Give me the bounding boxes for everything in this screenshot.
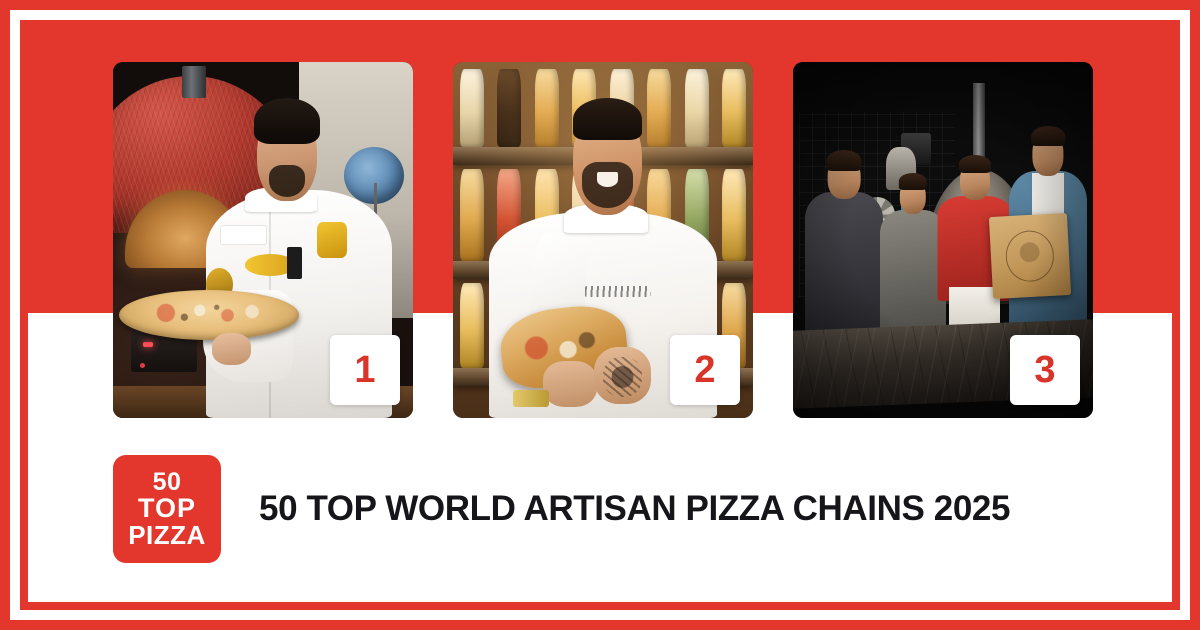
neapolitan-pizza: [119, 290, 299, 340]
logo-line-2: TOP: [138, 495, 196, 521]
ranking-card-2[interactable]: 2: [453, 62, 753, 418]
poster-canvas: 1: [0, 0, 1200, 630]
fifty-top-pizza-logo[interactable]: 50 TOP PIZZA: [113, 455, 221, 563]
rank-badge-2: 2: [670, 335, 740, 405]
ranking-card-1[interactable]: 1: [113, 62, 413, 418]
page-title: 50 TOP WORLD ARTISAN PIZZA CHAINS 2025: [259, 489, 1010, 529]
logo-line-1: 50: [153, 470, 182, 495]
rank-badge-3: 3: [1010, 335, 1080, 405]
footer-bar: 50 TOP PIZZA 50 TOP WORLD ARTISAN PIZZA …: [113, 455, 1010, 563]
ranking-card-3[interactable]: 3: [793, 62, 1093, 418]
logo-line-3: PIZZA: [128, 523, 206, 548]
rank-badge-1: 1: [330, 335, 400, 405]
ranking-card-row: 1: [0, 0, 1200, 440]
embroidered-name-script: [585, 286, 651, 297]
